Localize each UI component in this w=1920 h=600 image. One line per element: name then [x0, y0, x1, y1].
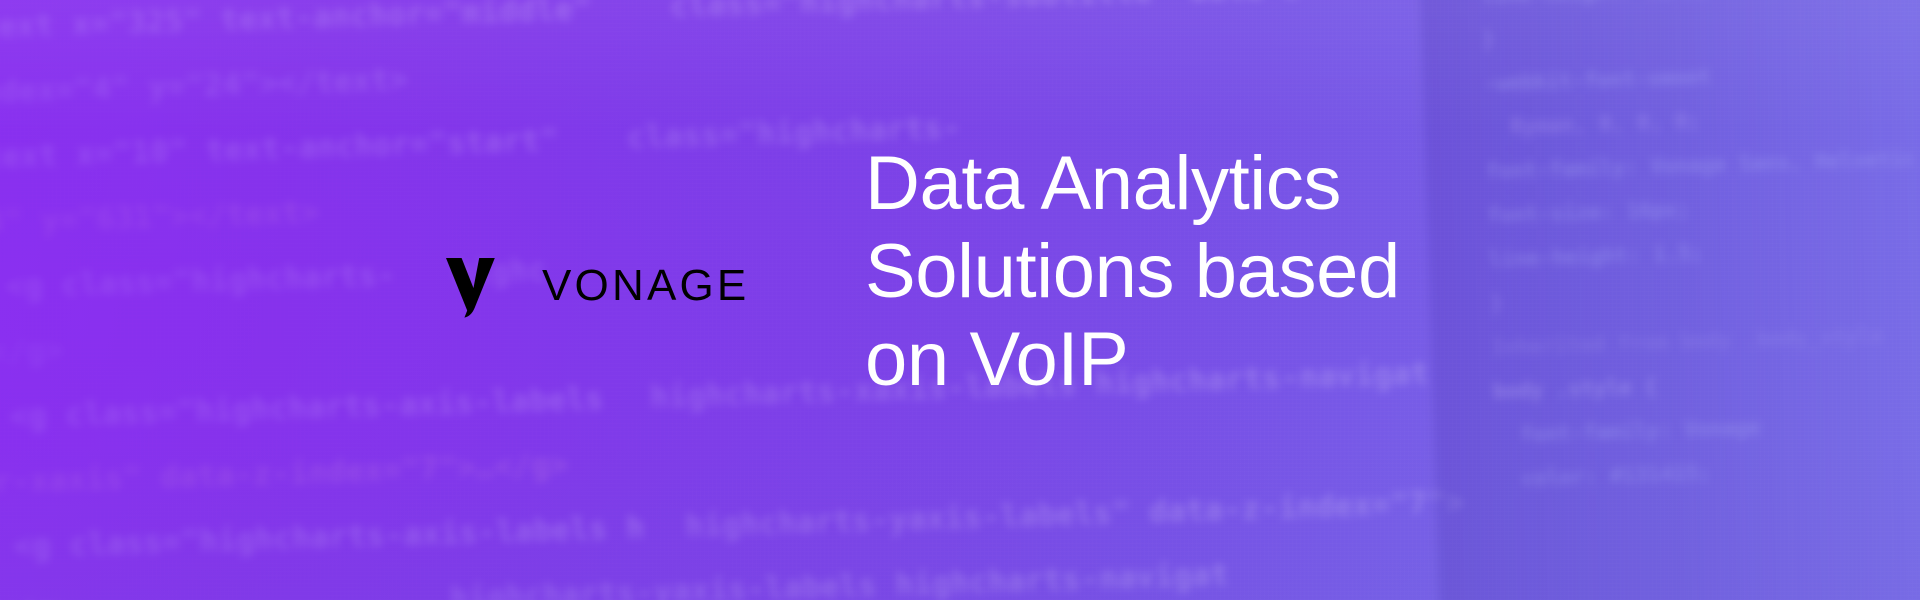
vonage-v-logomark — [444, 252, 512, 320]
headline-line-1: Data Analytics — [865, 140, 1565, 228]
vonage-wordmark: VONAGE — [542, 264, 749, 308]
headline-line-2: Solutions based — [865, 228, 1565, 316]
hero-banner: y="24" ></text> start" class="highcharts… — [0, 0, 1920, 600]
headline-line-3: on VoIP — [865, 316, 1565, 404]
banner-content: VONAGE Data Analytics Solutions based on… — [0, 0, 1920, 600]
page-title: Data Analytics Solutions based on VoIP — [865, 140, 1565, 404]
vonage-logo: VONAGE — [444, 252, 749, 320]
